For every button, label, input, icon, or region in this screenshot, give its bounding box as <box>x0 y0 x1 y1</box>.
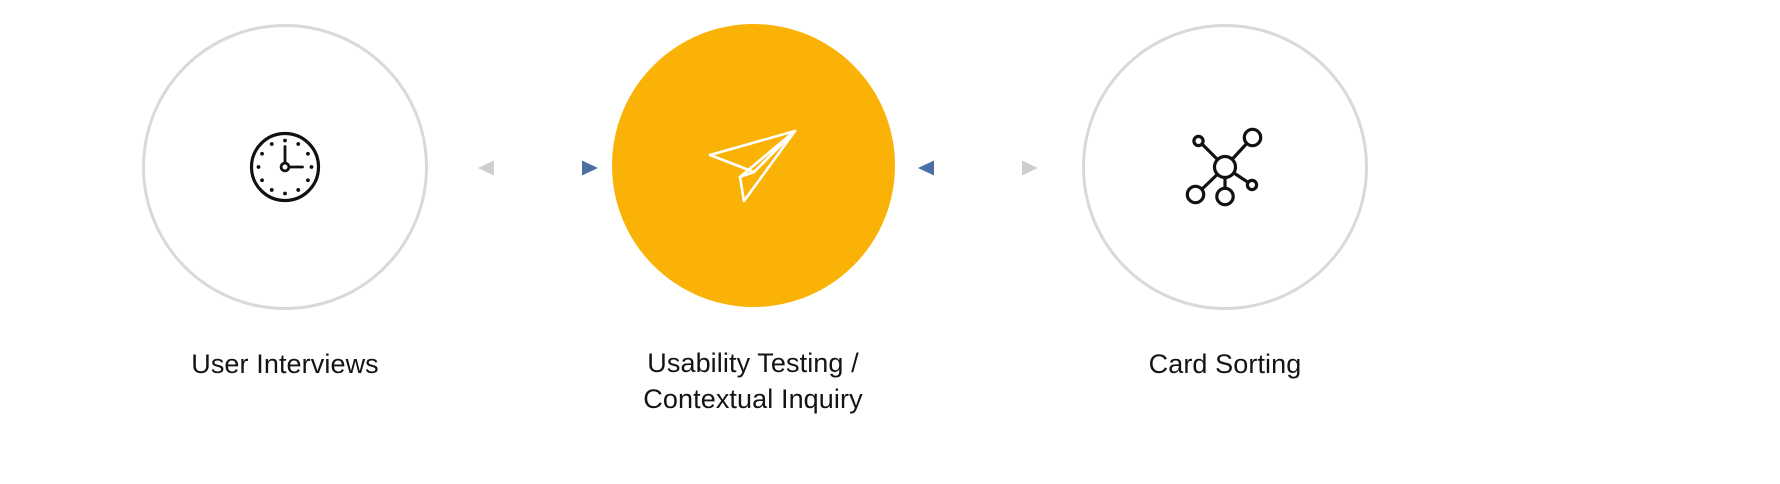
node-user-interviews[interactable]: User Interviews <box>135 0 435 382</box>
node-usability-testing[interactable]: Usability Testing / Contextual Inquiry <box>603 0 903 417</box>
node-label-user-interviews: User Interviews <box>135 346 435 382</box>
research-methods-diagram: User Interviews <box>0 0 1780 484</box>
node-label-usability-testing: Usability Testing / Contextual Inquiry <box>603 345 903 417</box>
connector-left-arrow <box>478 155 598 181</box>
node-card-sorting[interactable]: Card Sorting <box>1075 0 1375 382</box>
node-label-card-sorting: Card Sorting <box>1075 346 1375 382</box>
connector-right-arrow <box>918 155 1038 181</box>
circle-card-sorting[interactable] <box>1082 24 1368 310</box>
circle-user-interviews[interactable] <box>142 24 428 310</box>
clock-icon <box>247 129 323 205</box>
network-hub-icon <box>1184 126 1266 208</box>
circle-usability-testing[interactable] <box>612 24 895 307</box>
paper-plane-icon <box>707 127 799 205</box>
